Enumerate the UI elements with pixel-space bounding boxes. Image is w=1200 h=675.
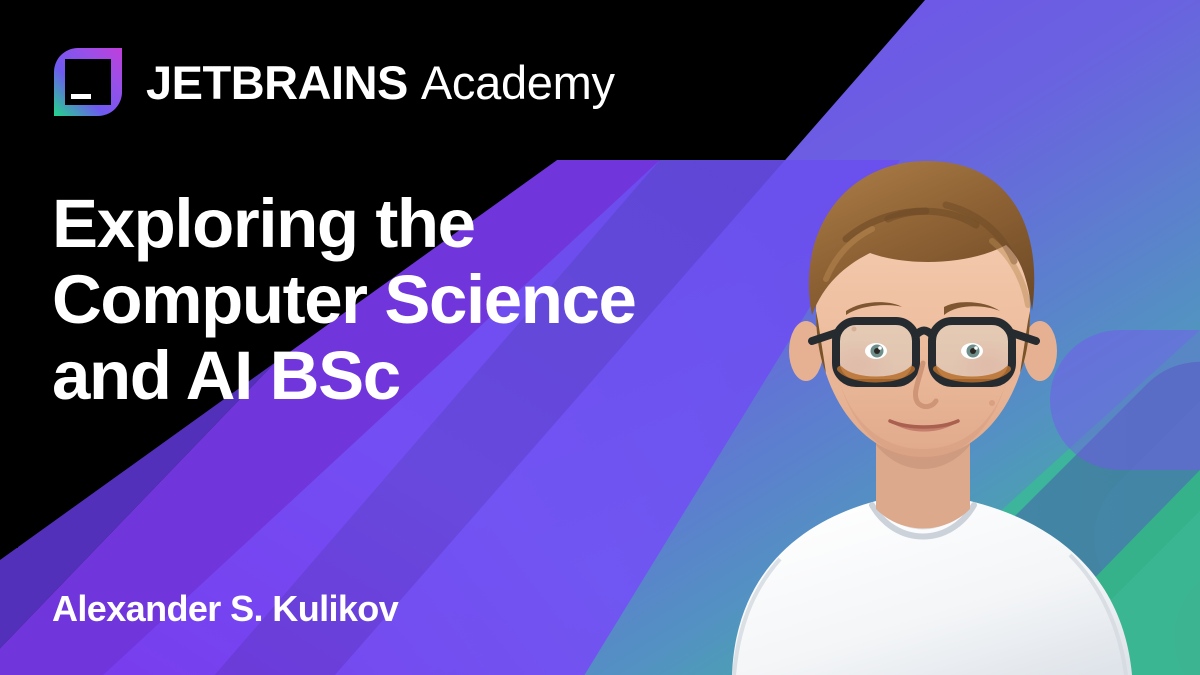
portrait-ears: [789, 321, 1057, 381]
bg-diamond-row-mid: [744, 171, 1200, 675]
jetbrains-academy-logo-icon: [52, 46, 124, 118]
brand-logo-lockup[interactable]: JETBRAINS Academy: [52, 46, 615, 118]
wordmark-jetbrains: JETBRAINS: [146, 59, 408, 106]
bg-diamond-row-front: [824, 301, 1200, 675]
portrait-nose: [915, 363, 936, 407]
bg-diamond-highlight: [964, 491, 1200, 675]
brand-wordmark: JETBRAINS Academy: [146, 59, 615, 106]
speaker-name: Alexander S. Kulikov: [52, 588, 398, 630]
wordmark-academy: Academy: [421, 59, 615, 106]
bg-green-corner: [820, 330, 1200, 675]
page-title: Exploring the Computer Science and AI BS…: [52, 186, 652, 414]
bg-right-notch: [1050, 210, 1200, 470]
portrait-neck: [876, 433, 970, 529]
portrait-glasses: [812, 321, 1036, 383]
bg-diamond-row-rear: [864, 0, 1200, 675]
portrait-hair: [809, 161, 1034, 373]
portrait-mouth: [890, 421, 958, 432]
slide-root: JETBRAINS Academy Exploring the Computer…: [0, 0, 1200, 675]
portrait-shirt: [732, 501, 1132, 675]
portrait-head: [816, 179, 1030, 459]
portrait-eyebrows: [846, 302, 1000, 315]
speaker-portrait: [640, 115, 1200, 675]
portrait-details: [852, 327, 996, 407]
